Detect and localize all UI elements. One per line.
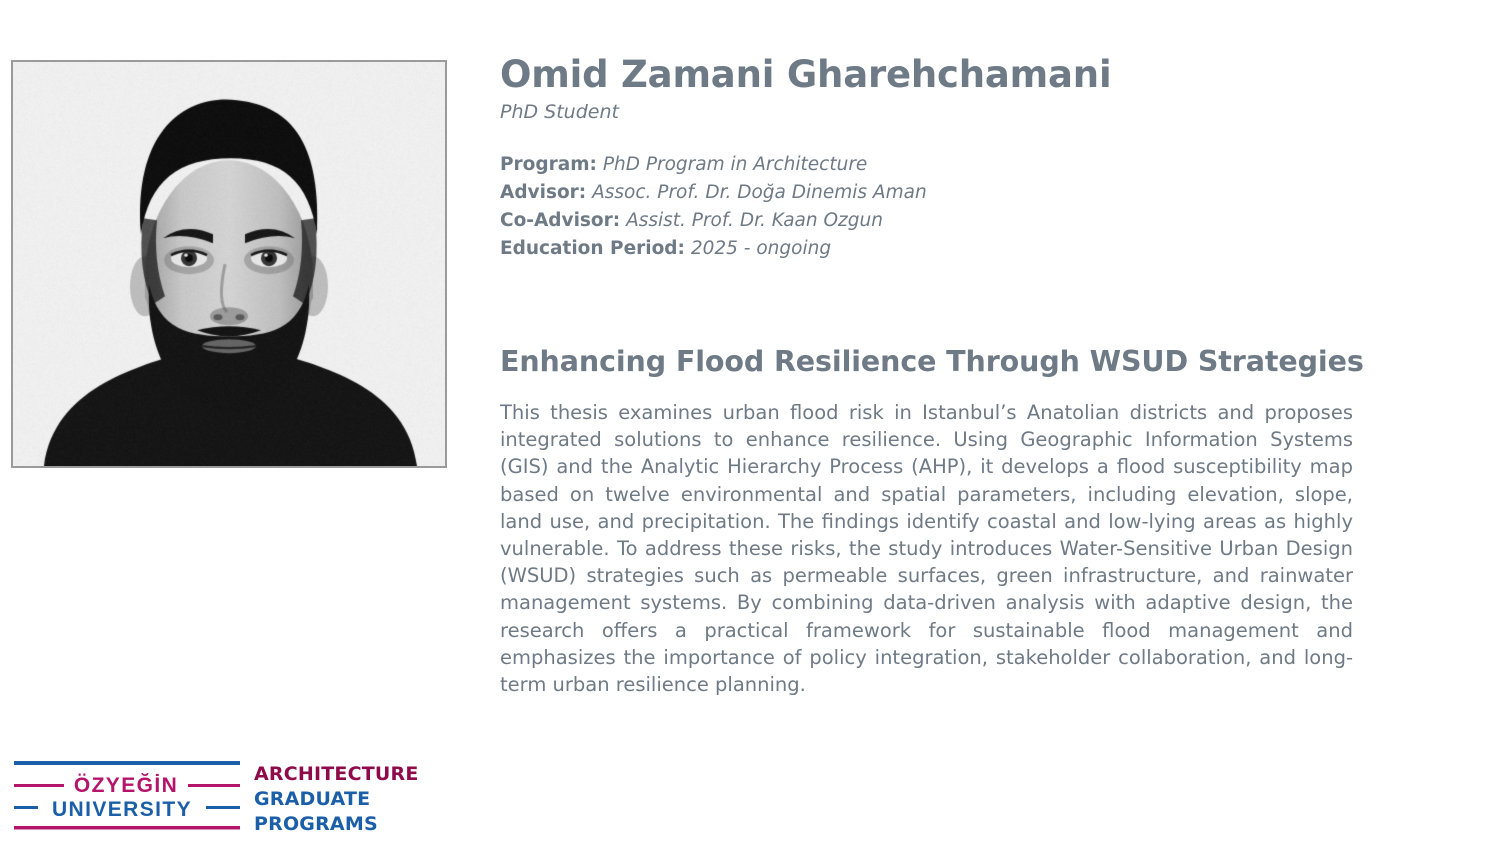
ozyegin-logo-mark: ÖZYEĞİN UNIVERSITY [12,758,242,834]
detail-label: Advisor: [500,182,586,203]
portrait-photo [13,62,445,466]
thesis-abstract: This thesis examines urban flood risk in… [500,399,1353,698]
detail-label: Program: [500,154,597,175]
detail-row-co-advisor: Co-Advisor: Assist. Prof. Dr. Kaan Ozgun [500,207,1353,235]
detail-label: Co-Advisor: [500,210,620,231]
program-line-graduate: GRADUATE [254,787,419,812]
ozyegin-wordmark: ÖZYEĞİN [74,773,178,797]
program-line-architecture: ARCHITECTURE [254,762,419,787]
portrait-photo-frame [11,60,447,468]
detail-value: 2025 - ongoing [691,238,831,259]
program-line-programs: PROGRAMS [254,812,419,837]
profile-content: Omid Zamani Gharehchamani PhD Student Pr… [500,54,1353,698]
thesis-title: Enhancing Flood Resilience Through WSUD … [500,263,1353,379]
ozyegin-university-logo: ÖZYEĞİN UNIVERSITY [12,758,242,834]
logo-lockup: ÖZYEĞİN UNIVERSITY ARCHITECTURE GRADUATE… [12,758,412,834]
detail-row-education-period: Education Period: 2025 - ongoing [500,235,1353,263]
detail-row-advisor: Advisor: Assoc. Prof. Dr. Doğa Dinemis A… [500,179,1353,207]
person-role: PhD Student [500,101,1353,124]
detail-value: PhD Program in Architecture [603,154,868,175]
detail-value: Assoc. Prof. Dr. Doğa Dinemis Aman [592,182,927,203]
program-name-block: ARCHITECTURE GRADUATE PROGRAMS [254,758,419,837]
detail-value: Assist. Prof. Dr. Kaan Ozgun [626,210,883,231]
detail-label: Education Period: [500,238,685,259]
detail-list: Program: PhD Program in Architecture Adv… [500,151,1353,263]
university-wordmark: UNIVERSITY [52,798,192,821]
page-title: Omid Zamani Gharehchamani [500,54,1353,97]
detail-row-program: Program: PhD Program in Architecture [500,151,1353,179]
